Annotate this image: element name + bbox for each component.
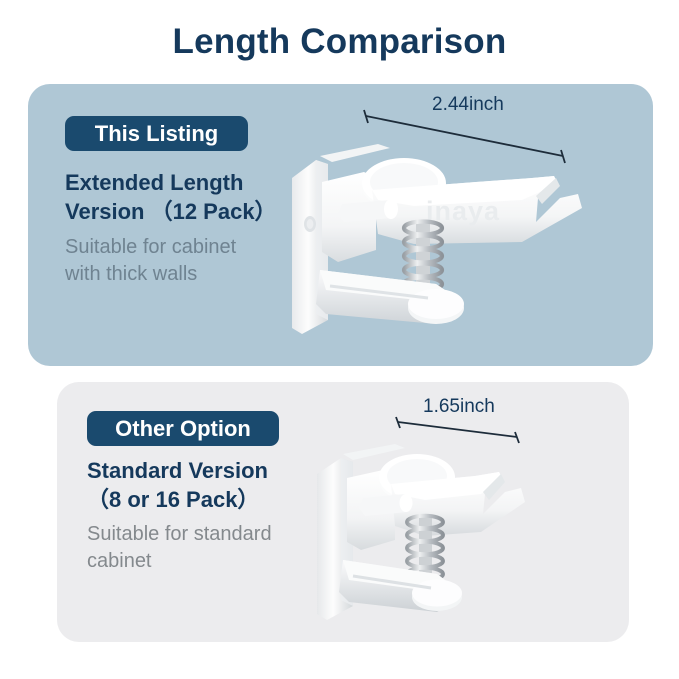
subcaption-other-option: Suitable for standard cabinet [87, 521, 357, 575]
page-title: Length Comparison [0, 22, 679, 62]
subcaption-this-listing: Suitable for cabinet with thick walls [65, 234, 325, 288]
dimension-label-standard: 1.65inch [423, 396, 495, 418]
headline-this-listing: Extended Length Version （12 Pack） [65, 168, 335, 226]
headline-other-option: Standard Version （8 or 16 Pack） [87, 456, 357, 514]
badge-other-option: Other Option [87, 411, 279, 446]
product-image-extended-latch: inaya [286, 138, 616, 338]
infographic-page: Length Comparison [0, 0, 679, 679]
badge-this-listing: This Listing [65, 116, 248, 151]
dimension-label-extended: 2.44inch [432, 94, 504, 116]
